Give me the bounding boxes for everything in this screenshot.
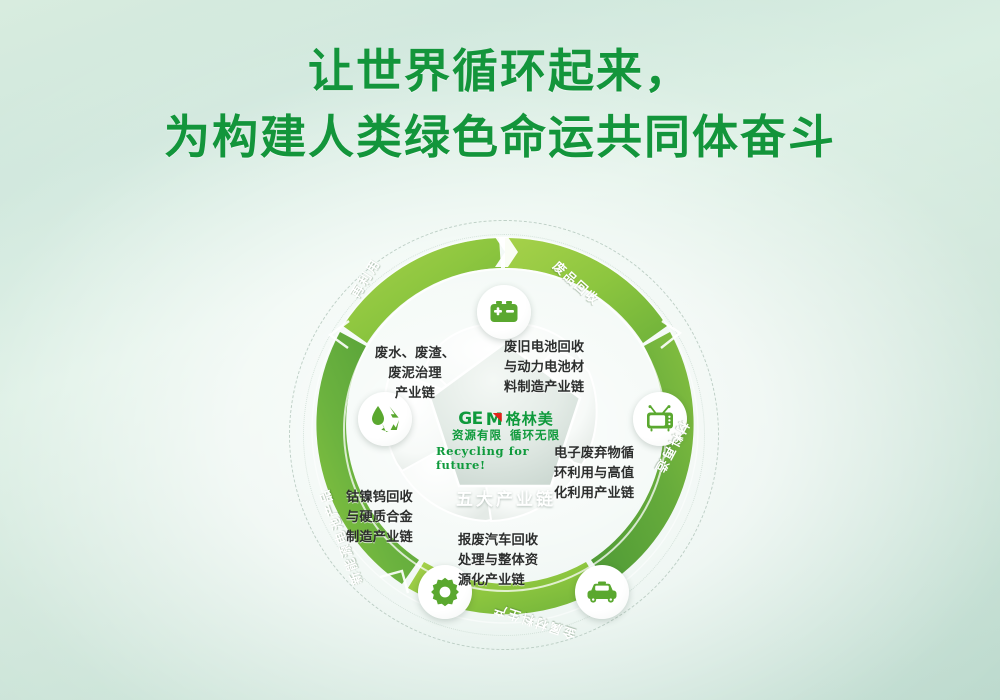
gem-slogan-right: 循环无限 [510, 430, 560, 443]
gem-wordmark: GE M 格林美 [458, 411, 554, 428]
gem-latin-mark-m: M [486, 413, 501, 428]
car-icon [586, 581, 618, 603]
television-icon [645, 405, 675, 433]
gem-chinese-name: 格林美 [506, 411, 554, 428]
page-title: 让世界循环起来， 为构建人类绿色命运共同体奋斗 [0, 42, 1000, 168]
chain-icon-battery[interactable] [477, 285, 531, 339]
gem-slogan-left: 资源有限 [452, 430, 502, 443]
chain-label-alloy: 钴镍钨回收 与硬质合金 制造产业链 [346, 487, 450, 547]
poster-canvas: 让世界循环起来， 为构建人类绿色命运共同体奋斗 [0, 0, 1000, 700]
gem-slogan: 资源有限 循环无限 [452, 430, 560, 443]
gem-latin-mark: GE [458, 411, 483, 428]
gear-icon [430, 577, 460, 607]
five-industry-chain-diagram: 废旧电池回收 与动力电池材 料制造产业链 电子废弃物循 环利用与高值 化利用产业… [290, 215, 720, 675]
headline-line-1: 让世界循环起来， [0, 42, 1000, 102]
headline-line-2: 为构建人类绿色命运共同体奋斗 [0, 108, 1000, 168]
center-caption: 五大产业链 [456, 485, 556, 510]
chain-icon-car[interactable] [575, 565, 629, 619]
chain-label-vehicle: 报废汽车回收 处理与整体资 源化产业链 [458, 530, 562, 590]
gem-english-slogan: Recycling for future! [436, 444, 576, 472]
gem-brand-logo: GE M 格林美 资源有限 循环无限 Recycling for future!… [436, 411, 576, 521]
chain-label-water: 废水、废渣、 废泥治理 产业链 [362, 343, 468, 403]
chain-label-battery: 废旧电池回收 与动力电池材 料制造产业链 [504, 337, 616, 397]
battery-icon [489, 299, 519, 325]
recycle-drop-icon [369, 404, 401, 434]
